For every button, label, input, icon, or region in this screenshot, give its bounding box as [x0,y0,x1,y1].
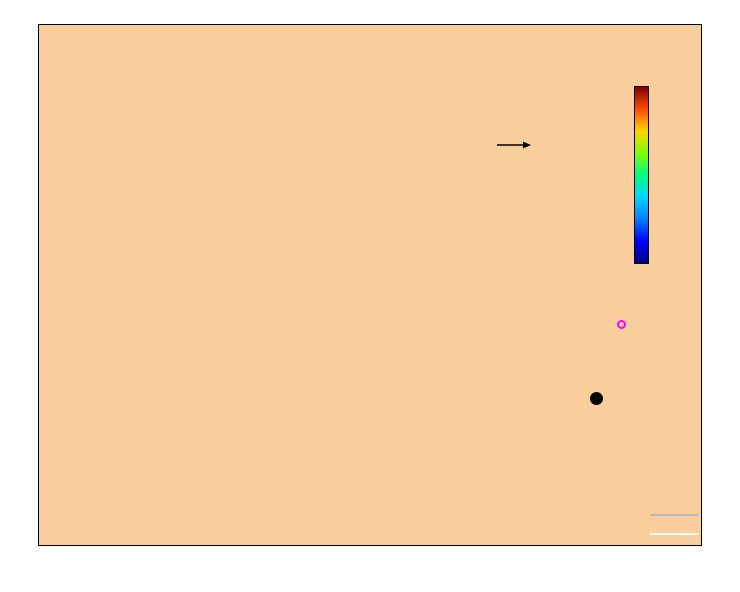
colorbar-axis-label [667,30,691,290]
argo-float-marker-icon[interactable] [617,320,626,329]
figure-root [0,0,740,592]
map-overlays-canvas [39,25,701,545]
contour-200m-swatch [650,514,698,516]
reference-arrow-icon [497,139,531,151]
map-plot-area[interactable] [38,24,702,546]
dongara-town-marker-icon[interactable] [590,392,603,405]
contour-1000m-swatch [650,533,698,535]
copyright-label [713,300,735,560]
colorbar-gradient[interactable] [634,86,649,264]
